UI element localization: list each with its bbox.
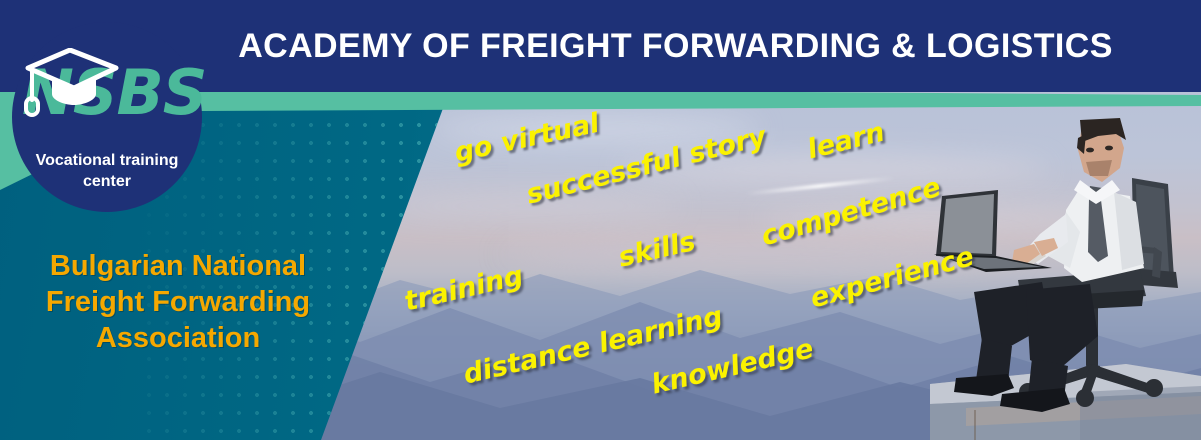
academy-banner: go virtualsuccessful storylearncompetenc… — [0, 0, 1201, 440]
logo-subtitle: Vocational training center — [12, 150, 202, 192]
association-name-line1: Bulgarian National — [18, 248, 338, 284]
logo-subtitle-line2: center — [12, 171, 202, 192]
association-name-line2: Freight Forwarding — [18, 284, 338, 320]
logo-subtitle-line1: Vocational training — [12, 150, 202, 171]
head — [1077, 118, 1126, 182]
graduation-cap-icon — [22, 48, 120, 118]
association-name-line3: Association — [18, 320, 338, 356]
association-name: Bulgarian National Freight Forwarding As… — [18, 248, 338, 356]
